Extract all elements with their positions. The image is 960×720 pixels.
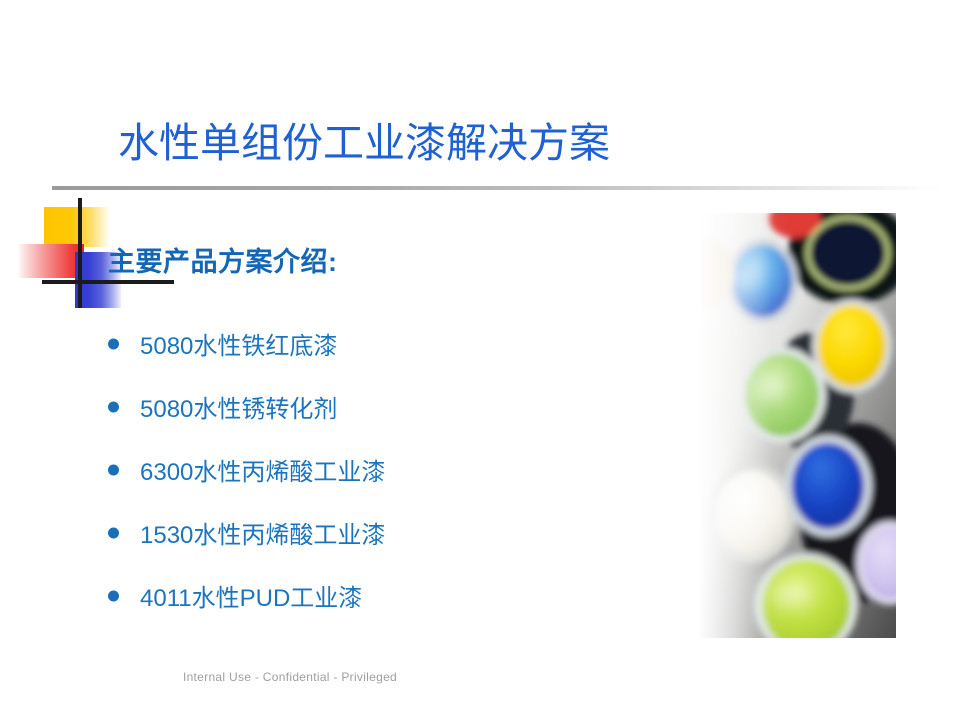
bullet-dot-icon — [108, 527, 119, 538]
bullet-dot-icon — [108, 590, 119, 601]
bullet-dot-icon — [108, 401, 119, 412]
section-subheading: 主要产品方案介绍: — [108, 240, 338, 279]
deco-yellow-block — [44, 207, 110, 247]
list-item: 1530水性丙烯酸工业漆 — [104, 501, 644, 564]
paint-cans-photo — [700, 213, 896, 638]
title-underline-rule — [52, 186, 940, 190]
list-item-label: 4011水性PUD工业漆 — [140, 578, 362, 613]
slide-title: 水性单组份工业漆解决方案 — [118, 123, 610, 164]
list-item-label: 1530水性丙烯酸工业漆 — [140, 515, 385, 550]
deco-horizontal-line — [42, 280, 174, 284]
list-item-label: 5080水性锈转化剂 — [140, 389, 337, 424]
slide-canvas: 水性单组份工业漆解决方案 主要产品方案介绍: 5080水性铁红底漆 5080水性… — [0, 0, 960, 720]
product-bullet-list: 5080水性铁红底漆 5080水性锈转化剂 6300水性丙烯酸工业漆 1530水… — [104, 312, 644, 627]
list-item: 5080水性铁红底漆 — [104, 312, 644, 375]
bullet-dot-icon — [108, 338, 119, 349]
list-item-label: 6300水性丙烯酸工业漆 — [140, 452, 385, 487]
bullet-dot-icon — [108, 464, 119, 475]
footer-confidentiality-notice: Internal Use - Confidential - Privileged — [0, 670, 580, 684]
list-item: 4011水性PUD工业漆 — [104, 564, 644, 627]
list-item: 6300水性丙烯酸工业漆 — [104, 438, 644, 501]
list-item-label: 5080水性铁红底漆 — [140, 326, 337, 361]
deco-vertical-line — [78, 198, 82, 308]
deco-red-block — [17, 244, 84, 278]
list-item: 5080水性锈转化剂 — [104, 375, 644, 438]
